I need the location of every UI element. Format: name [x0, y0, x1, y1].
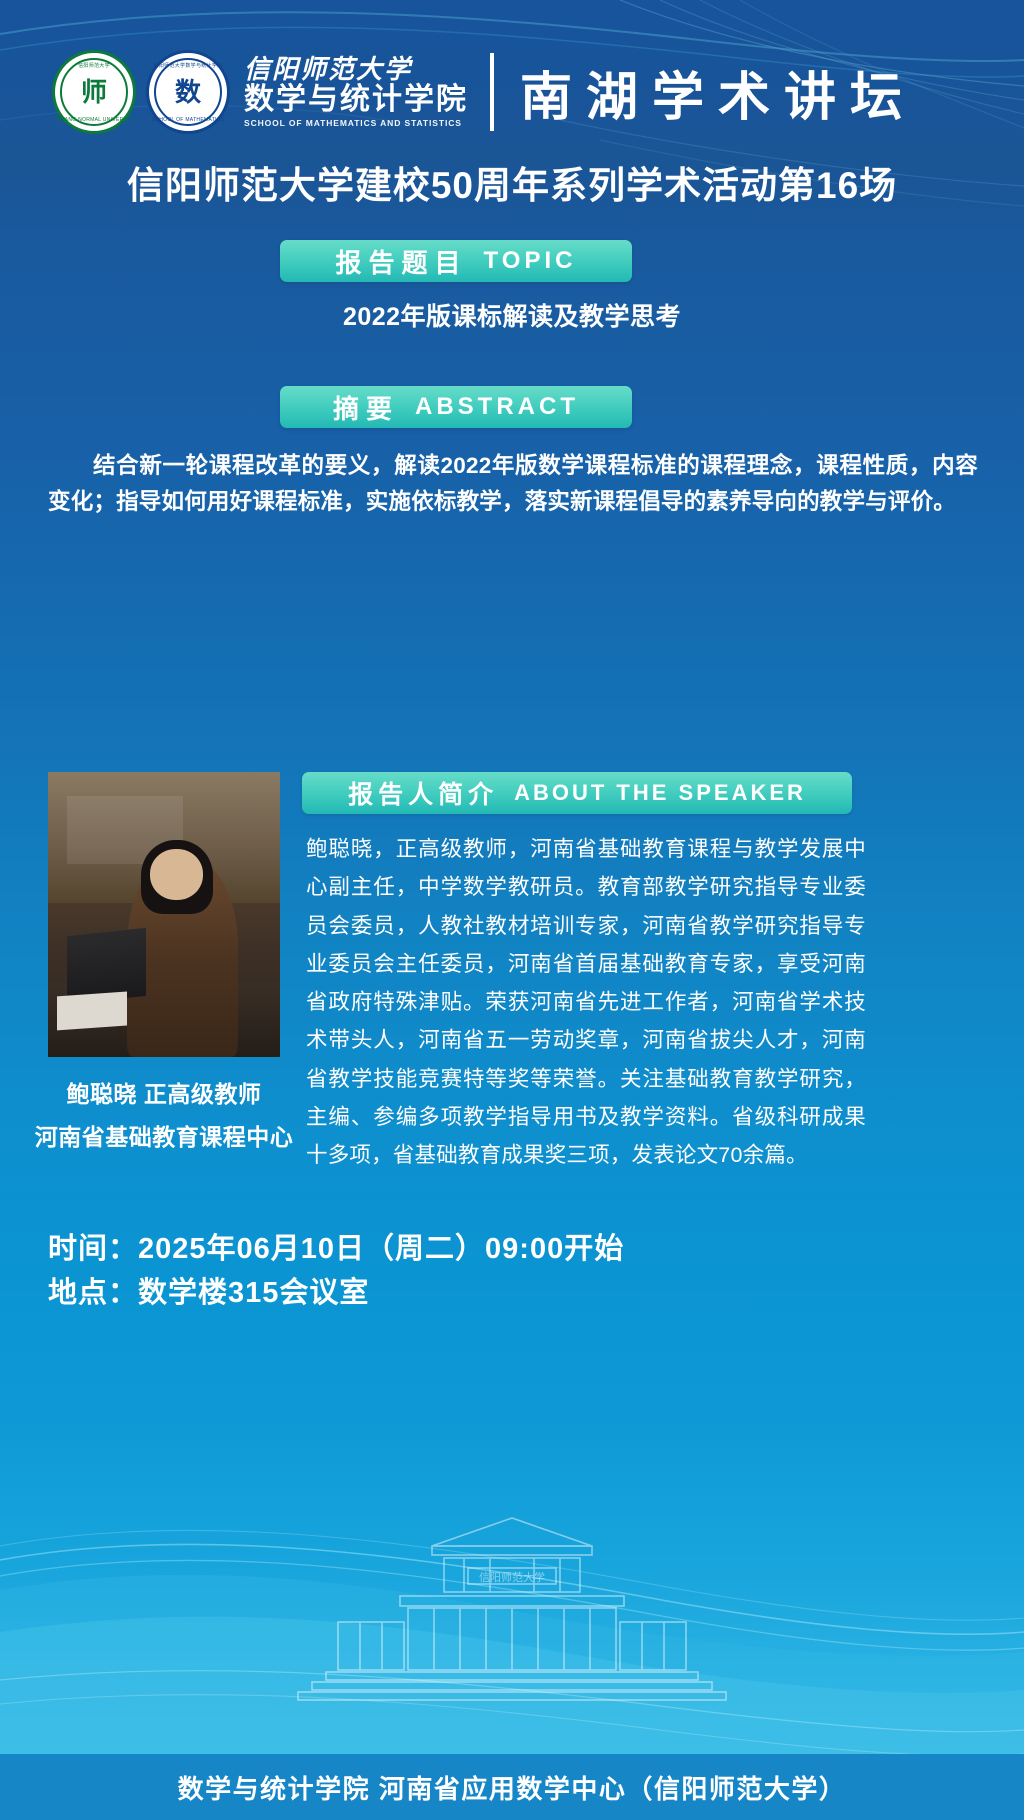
poster-footer: 数学与统计学院 河南省应用数学中心（信阳师范大学）	[0, 1754, 1024, 1820]
topic-text: 2022年版课标解读及教学思考	[0, 297, 1024, 333]
event-place: 地点：数学楼315会议室	[48, 1272, 948, 1316]
seal-top-text: 信阳师范大学数学与统计学院	[154, 62, 223, 69]
speaker-affiliation: 河南省基础教育课程中心	[20, 1118, 308, 1152]
building-illustration: 信阳师范大学	[282, 1512, 742, 1712]
banner-label-cn: 摘要	[333, 389, 399, 426]
section-banner-topic: 报告题目 TOPIC	[280, 240, 632, 282]
university-name-cn: 信阳师范大学	[244, 56, 468, 83]
photo-person-head	[150, 849, 203, 900]
poster-header: 信阳师范大学 师 XINYANG NORMAL UNIVERSITY 信阳师范大…	[0, 42, 1024, 142]
seal-center-glyph: 数	[175, 79, 201, 105]
school-name-block: 信阳师范大学 数学与统计学院 SCHOOL OF MATHEMATICS AND…	[244, 56, 468, 128]
header-divider	[490, 53, 494, 131]
forum-title: 南湖学术讲坛	[520, 55, 916, 130]
seal-bottom-text: XINYANG NORMAL UNIVERSITY	[52, 117, 136, 123]
poster-root: 信阳师范大学 师 XINYANG NORMAL UNIVERSITY 信阳师范大…	[0, 0, 1024, 1820]
speaker-caption: 鲍聪晓 正高级教师 河南省基础教育课程中心	[20, 1075, 308, 1152]
speaker-name-title: 鲍聪晓 正高级教师	[20, 1075, 308, 1109]
school-name-en: SCHOOL OF MATHEMATICS AND STATISTICS	[244, 118, 468, 128]
event-details: 时间：2025年06月10日（周二）09:00开始 地点：数学楼315会议室	[48, 1228, 948, 1315]
school-seal-logo: 信阳师范大学数学与统计学院 数 SCHOOL OF MATHEMATICS	[146, 50, 230, 134]
banner-label-en: TOPIC	[484, 247, 577, 275]
section-banner-speaker: 报告人简介 ABOUT THE SPEAKER	[302, 772, 852, 814]
photo-papers	[57, 992, 127, 1031]
seal-bottom-text: SCHOOL OF MATHEMATICS	[152, 117, 225, 123]
abstract-text: 结合新一轮课程改革的要义，解读2022年版数学课程标准的课程理念，课程性质，内容…	[48, 448, 978, 521]
university-seal-logo: 信阳师范大学 师 XINYANG NORMAL UNIVERSITY	[52, 50, 136, 134]
footer-text: 数学与统计学院 河南省应用数学中心（信阳师范大学）	[178, 1769, 847, 1806]
seal-top-text: 信阳师范大学	[78, 62, 110, 69]
speaker-photo	[48, 772, 280, 1057]
building-nameplate-text: 信阳师范大学	[479, 1570, 545, 1584]
banner-label-cn: 报告题目	[336, 243, 468, 280]
banner-label-en: ABOUT THE SPEAKER	[514, 780, 806, 806]
seal-center-glyph: 师	[81, 79, 107, 105]
banner-label-cn: 报告人简介	[348, 775, 498, 811]
event-time: 时间：2025年06月10日（周二）09:00开始	[48, 1228, 948, 1272]
section-banner-abstract: 摘要 ABSTRACT	[280, 386, 632, 428]
school-name-cn: 数学与统计学院	[244, 83, 468, 116]
poster-subtitle: 信阳师范大学建校50周年系列学术活动第16场	[0, 155, 1024, 209]
speaker-bio-text: 鲍聪晓，正高级教师，河南省基础教育课程与教学发展中心副主任，中学数学教研员。教育…	[306, 830, 866, 1174]
banner-label-en: ABSTRACT	[415, 393, 579, 421]
